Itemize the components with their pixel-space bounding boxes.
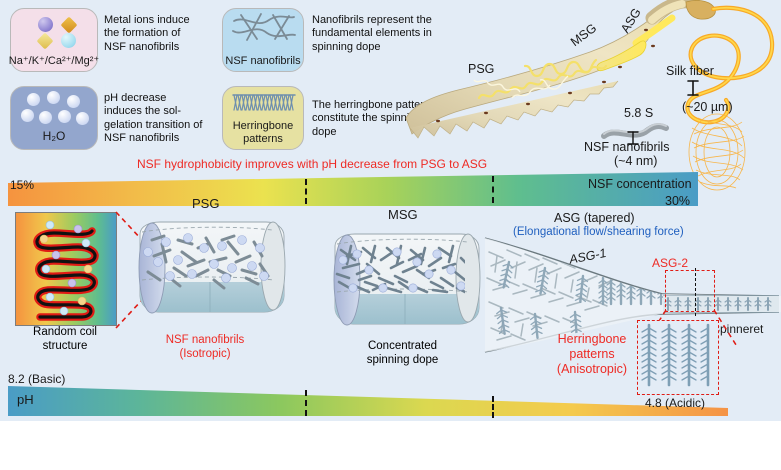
segment-label-msg: MSG bbox=[388, 207, 418, 222]
info-box-water-label: H₂O bbox=[43, 130, 66, 149]
cylinder-dope-label: Concentrated spinning dope bbox=[330, 340, 475, 367]
water-droplet bbox=[58, 110, 71, 123]
ph-divider-1 bbox=[305, 390, 307, 416]
herringbone-zoom-panel bbox=[637, 320, 719, 395]
ion-diamond-orange bbox=[61, 17, 78, 34]
silk-fiber-label: Silk fiber bbox=[666, 64, 714, 79]
segment-label-psg: PSG bbox=[192, 196, 219, 211]
nsf-nanofibril-size: (~4 nm) bbox=[614, 154, 657, 169]
nsf-nanofibril-label: NSF nanofibrils bbox=[584, 140, 669, 155]
info-box-water: H₂O bbox=[10, 86, 98, 150]
herringbone-comb-icon bbox=[231, 92, 297, 112]
info-box-metal-ions-label: Na⁺/K⁺/Ca²⁺/Mg²⁺ bbox=[9, 55, 99, 71]
ion-particles-icon bbox=[11, 13, 99, 53]
ion-sphere-cyan bbox=[61, 33, 76, 48]
herringbone-zoom-label: Herringbone patterns (Anisotropic) bbox=[549, 332, 635, 377]
water-droplets-icon bbox=[11, 91, 99, 131]
water-droplet bbox=[47, 91, 60, 104]
info-box-metal-ions: Na⁺/K⁺/Ca²⁺/Mg²⁺ bbox=[10, 8, 98, 72]
ph-end-value: 4.8 (Acidic) bbox=[645, 396, 705, 410]
ion-diamond-yellow bbox=[37, 33, 54, 50]
info-box-herringbone: Herringbone patterns bbox=[222, 86, 304, 150]
asg-2-selection-box bbox=[665, 270, 715, 312]
ion-sphere-purple bbox=[38, 17, 53, 32]
info-box-herringbone-label: Herringbone patterns bbox=[223, 120, 303, 149]
nanofibril-sed-value: 5.8 S bbox=[624, 106, 653, 121]
figure-canvas: Na⁺/K⁺/Ca²⁺/Mg²⁺ Metal ions induce the f… bbox=[0, 0, 781, 470]
bar-divider-msg-asg bbox=[492, 176, 494, 203]
info-box-water-caption: pH decrease induces the sol-gelation tra… bbox=[104, 92, 204, 146]
info-box-metal-ions-caption: Metal ions induce the formation of NSF n… bbox=[104, 14, 200, 54]
cylinder-nsf-label: NSF nanofibrils (Isotropic) bbox=[130, 334, 280, 361]
water-droplet bbox=[39, 111, 52, 124]
info-box-nsf-label: NSF nanofibrils bbox=[225, 55, 300, 71]
concentration-end-value: 30% bbox=[665, 194, 690, 209]
info-box-nsf-nanofibrils: NSF nanofibrils bbox=[222, 8, 304, 72]
gland-label-psg: PSG bbox=[468, 62, 494, 77]
concentration-start-value: 15% bbox=[10, 178, 34, 192]
silk-fiber-caliper-icon bbox=[684, 78, 706, 98]
ph-bar-label: pH bbox=[17, 392, 34, 407]
random-coil-panel bbox=[15, 212, 117, 326]
ph-gradient-bar bbox=[8, 386, 728, 418]
random-coil-label: Random coil structure bbox=[10, 326, 120, 353]
bar-divider-psg-msg bbox=[305, 179, 307, 204]
segment-label-asg-tapered: ASG (tapered) bbox=[554, 211, 635, 226]
ph-divider-2 bbox=[492, 396, 494, 418]
asg-2-label: ASG-2 bbox=[652, 256, 688, 270]
cylinder-concentrated-dope bbox=[313, 230, 488, 345]
water-droplet bbox=[67, 95, 80, 108]
cylinder-nsf-nanofibrils bbox=[118, 218, 293, 333]
water-droplet bbox=[21, 109, 34, 122]
crossed-fibrils-icon bbox=[231, 13, 297, 41]
water-droplet bbox=[76, 112, 89, 125]
ph-start-value: 8.2 (Basic) bbox=[8, 372, 65, 386]
water-droplet bbox=[27, 93, 40, 106]
concentration-title: NSF concentration bbox=[588, 177, 692, 192]
hydrophobicity-note: NSF hydrophobicity improves with pH decr… bbox=[137, 157, 487, 171]
silk-fiber-size: (~20 µm) bbox=[682, 100, 733, 115]
